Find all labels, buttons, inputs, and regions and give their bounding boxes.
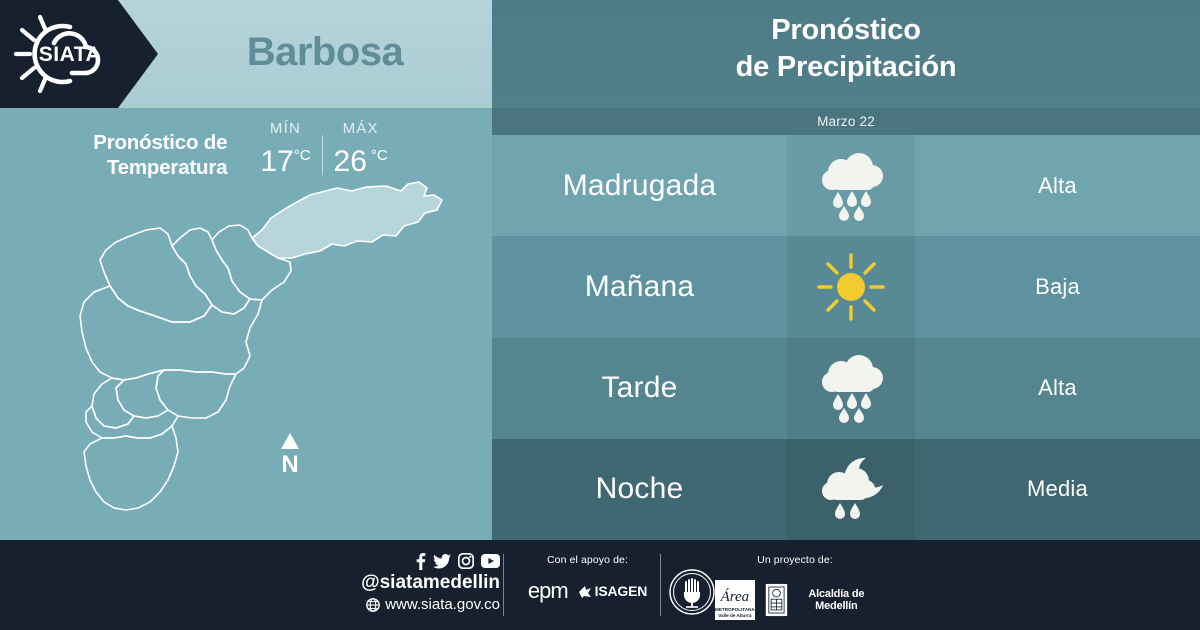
map-region-copacabana[interactable] xyxy=(172,228,250,314)
instagram-icon[interactable] xyxy=(458,553,474,569)
forecast-rows: Madrugada xyxy=(492,135,1200,540)
precipitation-header: Pronóstico de Precipitación xyxy=(492,0,1200,108)
compass-label: N xyxy=(278,454,302,476)
map-svg xyxy=(0,166,492,540)
row-level: Alta xyxy=(915,173,1200,199)
website-line[interactable]: www.siata.gov.co xyxy=(300,595,500,615)
project-block: Un proyecto de: Área METROPOLITANA Valle… xyxy=(715,554,875,622)
svg-text:SIATA: SIATA xyxy=(39,43,101,66)
alcaldia-crest-icon xyxy=(765,578,788,622)
facebook-icon[interactable] xyxy=(415,553,426,570)
sun-icon xyxy=(815,251,887,323)
right-panel: Pronóstico de Precipitación Marzo 22 Mad… xyxy=(492,0,1200,540)
rain-cloud-icon xyxy=(814,353,888,423)
support-logos: epm ISAGEN xyxy=(515,578,660,604)
min-unit: °C xyxy=(294,147,311,164)
north-arrow-icon xyxy=(278,433,302,449)
sun-cloud-icon: SIATA xyxy=(12,11,136,97)
left-body: Pronóstico de Temperatura MÍN 17°C MÁX 2… xyxy=(0,108,492,540)
twitter-icon[interactable] xyxy=(433,554,451,569)
row-level: Alta xyxy=(915,375,1200,401)
row-icon-cell xyxy=(787,439,915,540)
project-caption: Un proyecto de: xyxy=(715,554,875,566)
row-level: Media xyxy=(915,476,1200,502)
row-icon-cell xyxy=(787,135,915,236)
isagen-mark-icon xyxy=(578,585,592,598)
city-title: Barbosa xyxy=(158,0,492,108)
forecast-row[interactable]: Mañana xyxy=(492,236,1200,337)
social-icons xyxy=(300,552,500,570)
row-period: Madrugada xyxy=(492,169,787,203)
map-region-bello[interactable] xyxy=(100,228,212,322)
row-period: Tarde xyxy=(492,371,787,405)
row-icon-cell xyxy=(787,338,915,439)
min-label: MÍN xyxy=(260,119,310,139)
row-period: Mañana xyxy=(492,270,787,304)
map-region-barbosa[interactable] xyxy=(252,182,442,258)
amva-mark: Área xyxy=(721,589,750,606)
weather-forecast-poster: SIATA Barbosa Pronóstico de Temperatura … xyxy=(0,0,1200,630)
isagen-logo: ISAGEN xyxy=(578,583,647,599)
social-block: @siatamedellin www.siata.gov.co xyxy=(300,552,500,615)
rain-cloud-icon xyxy=(814,151,888,221)
support-caption: Con el apoyo de: xyxy=(515,554,660,566)
compass: N xyxy=(278,433,302,476)
temperature-title-line1: Pronóstico de xyxy=(93,130,227,155)
support-block: Con el apoyo de: epm ISAGEN xyxy=(515,554,660,604)
website-text: www.siata.gov.co xyxy=(385,595,500,615)
epm-logo: epm xyxy=(528,578,568,604)
footer-divider-2 xyxy=(660,554,661,616)
row-level: Baja xyxy=(915,274,1200,300)
max-label: MÁX xyxy=(334,119,388,139)
amva-line2: Valle de Aburrá xyxy=(718,613,751,618)
left-panel: SIATA Barbosa Pronóstico de Temperatura … xyxy=(0,0,492,540)
youtube-icon[interactable] xyxy=(481,554,500,568)
alcaldia-label: Alcaldía de Medellín xyxy=(798,588,875,612)
forecast-row[interactable]: Madrugada xyxy=(492,135,1200,236)
map-region-medellin[interactable] xyxy=(80,286,262,380)
footer-divider-1 xyxy=(503,554,504,616)
map-region-caldas[interactable] xyxy=(84,426,178,510)
globe-icon xyxy=(366,598,380,612)
precipitation-title-line1: Pronóstico xyxy=(492,12,1200,49)
footer: @siatamedellin www.siata.gov.co Con el a… xyxy=(0,540,1200,630)
forecast-date: Marzo 22 xyxy=(492,108,1200,135)
amva-logo: Área METROPOLITANA Valle de Aburrá xyxy=(715,580,755,620)
forecast-row[interactable]: Noche Media xyxy=(492,439,1200,540)
row-period: Noche xyxy=(492,472,787,506)
row-icon-cell xyxy=(787,236,915,337)
aburra-valley-map[interactable] xyxy=(0,166,492,540)
social-handle[interactable]: @siatamedellin xyxy=(300,571,500,595)
max-unit: °C xyxy=(371,147,388,164)
precipitation-title-line2: de Precipitación xyxy=(492,49,1200,86)
precipitation-title: Pronóstico de Precipitación xyxy=(492,12,1200,86)
udea-seal-icon xyxy=(668,568,716,616)
project-logos: Área METROPOLITANA Valle de Aburrá xyxy=(715,578,875,622)
forecast-row[interactable]: Tarde xyxy=(492,338,1200,439)
moon-cloud-rain-icon xyxy=(814,454,888,524)
